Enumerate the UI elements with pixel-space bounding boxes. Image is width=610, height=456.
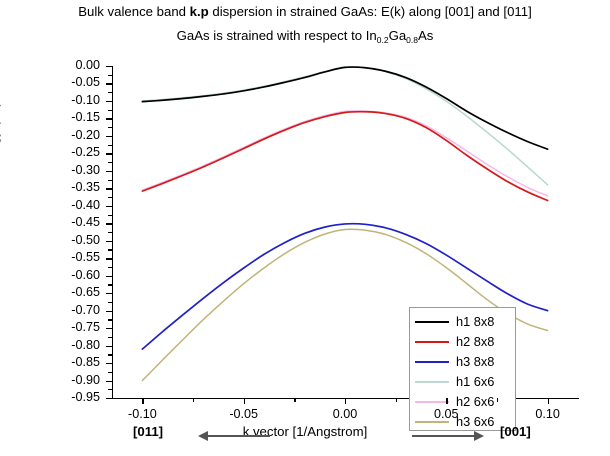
y-tick-minor	[108, 354, 112, 355]
y-tick	[106, 188, 112, 189]
x-tick	[446, 398, 447, 404]
x-tick-label: -0.10	[112, 407, 172, 421]
chart-title-kp: k.p	[190, 4, 209, 19]
y-tick-label: -0.45	[44, 215, 100, 229]
y-tick	[106, 381, 112, 382]
chart-subtitle-pre: GaAs is strained with respect to In	[177, 28, 377, 43]
y-tick-minor	[108, 162, 112, 163]
y-tick-label: -0.65	[44, 285, 100, 299]
y-tick-minor	[108, 232, 112, 233]
y-tick-minor	[108, 302, 112, 303]
y-tick-label: -0.75	[44, 320, 100, 334]
series-line	[142, 111, 547, 196]
chart-subtitle-sub2: 0.8	[406, 35, 418, 45]
legend-color-swatch	[415, 361, 449, 363]
x-tick-label: -0.05	[214, 407, 274, 421]
legend-color-swatch	[415, 321, 449, 323]
y-axis-label: energy (eV)	[0, 102, 1, 170]
chart-title-pre: Bulk valence band	[78, 4, 189, 19]
y-tick-label: -0.35	[44, 180, 100, 194]
chart-title: Bulk valence band k.p dispersion in stra…	[0, 4, 610, 19]
legend-label: h1 6x6	[456, 376, 494, 389]
y-tick	[106, 118, 112, 119]
y-tick-label: -0.50	[44, 233, 100, 247]
y-tick-label: -0.55	[44, 250, 100, 264]
legend-label: h3 8x8	[456, 356, 494, 369]
y-tick-label: -0.05	[44, 75, 100, 89]
y-tick-label: -0.90	[44, 373, 100, 387]
y-tick-minor	[108, 267, 112, 268]
chart-title-post: dispersion in strained GaAs: E(k) along …	[209, 4, 532, 19]
y-tick-label: -0.20	[44, 128, 100, 142]
y-tick	[106, 83, 112, 84]
legend-item[interactable]: h2 8x8	[410, 332, 515, 352]
legend-label: h1 8x8	[456, 316, 494, 329]
chart-subtitle-mid: Ga	[389, 28, 407, 43]
y-tick	[106, 223, 112, 224]
y-tick-label: -0.70	[44, 303, 100, 317]
legend-item[interactable]: h1 8x8	[410, 312, 515, 332]
plot-area: h1 8x8h2 8x8h3 8x8h1 6x6h2 6x6h3 6x6	[112, 66, 578, 398]
y-tick	[106, 241, 112, 242]
x-tick-label: 0.00	[315, 407, 375, 421]
legend-color-swatch	[415, 341, 449, 343]
chart-subtitle-post: As	[418, 28, 433, 43]
x-tick	[548, 398, 549, 404]
y-tick	[106, 206, 112, 207]
y-tick-label: -0.10	[44, 93, 100, 107]
y-tick-minor	[108, 372, 112, 373]
y-tick	[106, 258, 112, 259]
y-tick-label: -0.15	[44, 110, 100, 124]
y-tick-minor	[108, 249, 112, 250]
legend-color-swatch	[415, 421, 449, 423]
y-tick-minor	[108, 145, 112, 146]
x-tick	[244, 398, 245, 404]
y-tick-label: -0.40	[44, 198, 100, 212]
legend-item[interactable]: h3 8x8	[410, 352, 515, 372]
y-tick-minor	[108, 110, 112, 111]
y-tick	[106, 398, 112, 399]
y-tick-minor	[108, 197, 112, 198]
legend-label: h2 8x8	[456, 336, 494, 349]
chart-figure: Bulk valence band k.p dispersion in stra…	[0, 0, 610, 456]
chart-subtitle-sub1: 0.2	[377, 35, 389, 45]
y-tick-label: -0.60	[44, 268, 100, 282]
series-line	[142, 67, 547, 149]
legend-color-swatch	[415, 381, 449, 383]
x-tick-minor	[294, 398, 295, 402]
y-tick	[106, 346, 112, 347]
y-tick-label: -0.95	[44, 390, 100, 404]
y-tick-minor	[108, 389, 112, 390]
y-tick	[106, 311, 112, 312]
x-tick-label: 0.10	[518, 407, 578, 421]
legend-color-swatch	[415, 401, 449, 403]
y-tick-minor	[108, 92, 112, 93]
x-tick-minor	[396, 398, 397, 402]
y-tick	[106, 363, 112, 364]
y-tick-label: -0.85	[44, 355, 100, 369]
right-arrow-icon	[412, 431, 492, 441]
y-tick-minor	[108, 180, 112, 181]
left-arrow-icon	[196, 431, 276, 441]
y-tick	[106, 136, 112, 137]
legend-item[interactable]: h1 6x6	[410, 372, 515, 392]
x-tick	[345, 398, 346, 404]
y-tick-label: -0.30	[44, 163, 100, 177]
series-line	[142, 112, 547, 201]
x-tick-minor	[497, 398, 498, 402]
y-tick	[106, 101, 112, 102]
y-tick-minor	[108, 75, 112, 76]
y-tick	[106, 328, 112, 329]
y-tick	[106, 153, 112, 154]
y-tick	[106, 276, 112, 277]
y-tick	[106, 66, 112, 67]
y-tick	[106, 171, 112, 172]
y-tick-minor	[108, 319, 112, 320]
y-tick-label: -0.25	[44, 145, 100, 159]
x-tick-label: 0.05	[416, 407, 476, 421]
chart-subtitle: GaAs is strained with respect to In0.2Ga…	[0, 28, 610, 43]
y-tick-minor	[108, 284, 112, 285]
y-tick	[106, 293, 112, 294]
y-tick-label: -0.80	[44, 338, 100, 352]
x-tick	[142, 398, 143, 404]
y-tick-minor	[108, 127, 112, 128]
y-tick-minor	[108, 337, 112, 338]
y-tick-minor	[108, 215, 112, 216]
x-tick-minor	[193, 398, 194, 402]
y-tick-label: 0.00	[44, 58, 100, 72]
right-direction-label: [001]	[500, 424, 531, 439]
